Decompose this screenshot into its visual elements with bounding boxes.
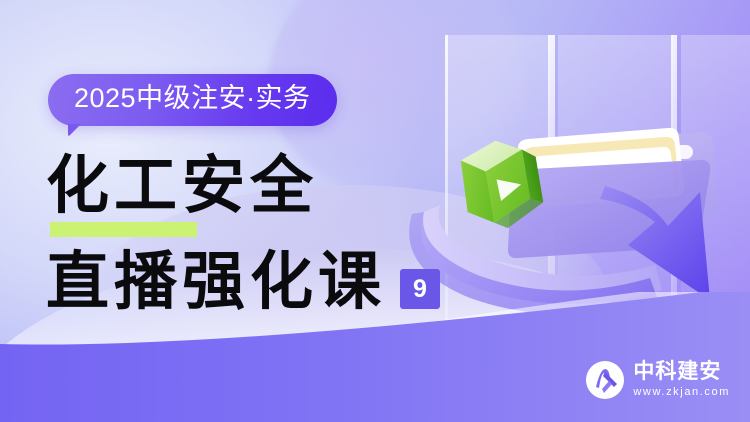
headline-line-1-wrap: 化工安全 (46, 142, 466, 230)
headline-block: 化工安全 直播强化课 9 (46, 142, 466, 320)
episode-number-badge: 9 (400, 269, 440, 309)
brand-logo-text: 中科建安 www.zkjan.com (633, 361, 730, 399)
brand-website: www.zkjan.com (633, 385, 730, 399)
brand-logo: 中科建安 www.zkjan.com (585, 360, 730, 400)
headline-line-2: 直播强化课 (46, 244, 386, 320)
course-tag-pill: 2025中级注安·实务 (48, 74, 337, 126)
pill-tail-icon (68, 124, 81, 137)
headline-line-2-wrap: 直播强化课 9 (46, 238, 466, 320)
brand-name: 中科建安 (633, 361, 730, 383)
course-promo-banner: 2025中级注安·实务 化工安全 直播强化课 9 中科建安 www.zkjan.… (0, 0, 750, 422)
course-tag-label: 2025中级注安·实务 (74, 83, 311, 113)
course-tag: 2025中级注安·实务 (48, 74, 337, 126)
headline-line-1: 化工安全 (46, 142, 466, 230)
zkjan-logo-icon (585, 360, 625, 400)
